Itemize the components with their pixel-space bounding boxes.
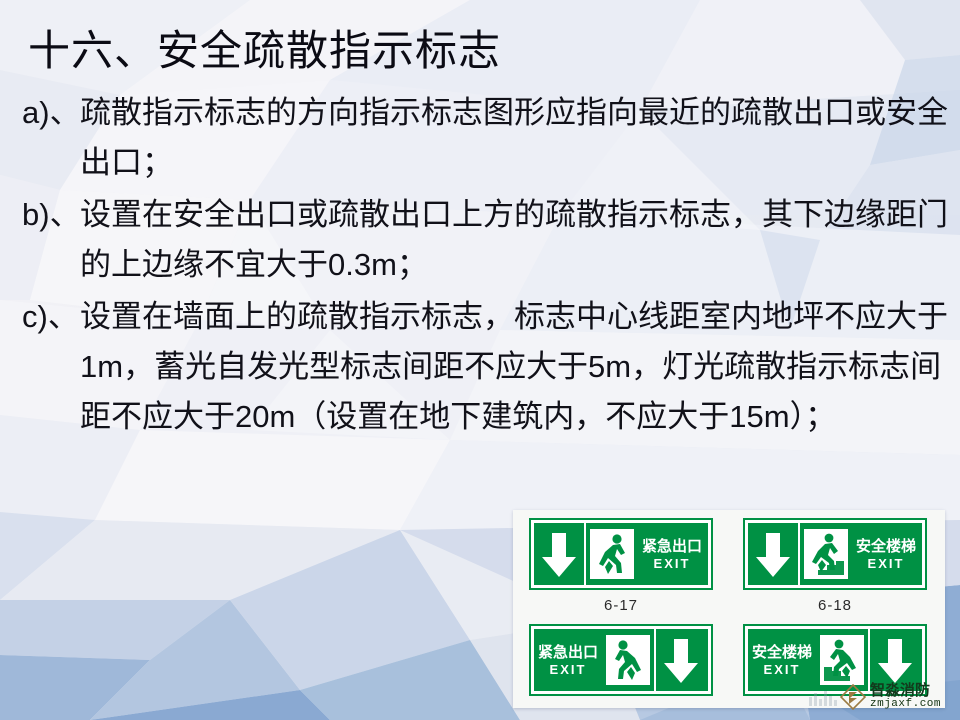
running-person-icon — [602, 629, 654, 691]
sign-cn-label: 安全楼梯 — [752, 645, 812, 660]
list-item: b)、 设置在安全出口或疏散出口上方的疏散指示标志，其下边缘距门的上边缘不宜大于… — [18, 190, 948, 290]
exit-sign-6-17-top: 紧急出口 EXIT — [531, 520, 711, 588]
sign-en-label: EXIT — [868, 557, 905, 570]
figure-caption: 6-18 — [745, 597, 925, 614]
watermark: 智淼消防 zmjaxf.com — [840, 678, 958, 716]
watermark-smudge — [808, 688, 842, 706]
sign-cn-label: 紧急出口 — [642, 539, 702, 554]
exit-sign-cell: 紧急出口 EXIT 6-17 — [531, 520, 711, 614]
list-item-text: 设置在墙面上的疏散指示标志，标志中心线距室内地坪不应大于1m，蓄光自发光型标志间… — [80, 292, 948, 442]
slide-content: 十六、安全疏散指示标志 a)、 疏散指示标志的方向指示标志图形应指向最近的疏散出… — [0, 0, 960, 720]
watermark-name: 智淼消防 — [870, 683, 958, 699]
list-item-marker: c)、 — [22, 292, 79, 342]
figure-caption: 6-17 — [531, 597, 711, 614]
sign-text-block: 紧急出口 EXIT — [638, 523, 706, 585]
exit-sign-6-18-top: 安全楼梯 EXIT — [745, 520, 925, 588]
exit-sign-cell: 紧急出口 EXIT — [531, 626, 711, 694]
list-item: c)、 设置在墙面上的疏散指示标志，标志中心线距室内地坪不应大于1m，蓄光自发光… — [18, 292, 948, 442]
exit-sign-cell: 安全楼梯 EXIT 6-18 — [745, 520, 925, 614]
sign-text-block: 紧急出口 EXIT — [534, 629, 602, 691]
body-list: a)、 疏散指示标志的方向指示标志图形应指向最近的疏散出口或安全出口； b)、 … — [18, 88, 948, 444]
list-item-marker: b)、 — [22, 190, 81, 240]
sign-en-label: EXIT — [550, 663, 587, 676]
sign-text-block: 安全楼梯 EXIT — [852, 523, 920, 585]
sign-cn-label: 紧急出口 — [538, 645, 598, 660]
sign-cn-label: 安全楼梯 — [856, 539, 916, 554]
page-title: 十六、安全疏散指示标志 — [28, 26, 501, 76]
list-item-marker: a)、 — [22, 88, 81, 138]
list-item: a)、 疏散指示标志的方向指示标志图形应指向最近的疏散出口或安全出口； — [18, 88, 948, 188]
list-item-text: 设置在安全出口或疏散出口上方的疏散指示标志，其下边缘距门的上边缘不宜大于0.3m… — [80, 190, 948, 290]
sign-text-block: 安全楼梯 EXIT — [748, 629, 816, 691]
sign-en-label: EXIT — [654, 557, 691, 570]
down-arrow-icon — [656, 629, 706, 691]
sign-en-label: EXIT — [764, 663, 801, 676]
running-person-icon — [586, 523, 638, 585]
diamond-logo-icon — [840, 684, 866, 710]
down-arrow-icon — [534, 523, 584, 585]
list-item-text: 疏散指示标志的方向指示标志图形应指向最近的疏散出口或安全出口； — [80, 88, 948, 188]
watermark-text: 智淼消防 zmjaxf.com — [870, 683, 958, 710]
slide-canvas: 十六、安全疏散指示标志 a)、 疏散指示标志的方向指示标志图形应指向最近的疏散出… — [0, 0, 960, 720]
watermark-url: zmjaxf.com — [870, 699, 958, 711]
down-arrow-icon — [748, 523, 798, 585]
exit-sign-6-17-bottom: 紧急出口 EXIT — [531, 626, 711, 694]
person-on-stairs-icon — [800, 523, 852, 585]
